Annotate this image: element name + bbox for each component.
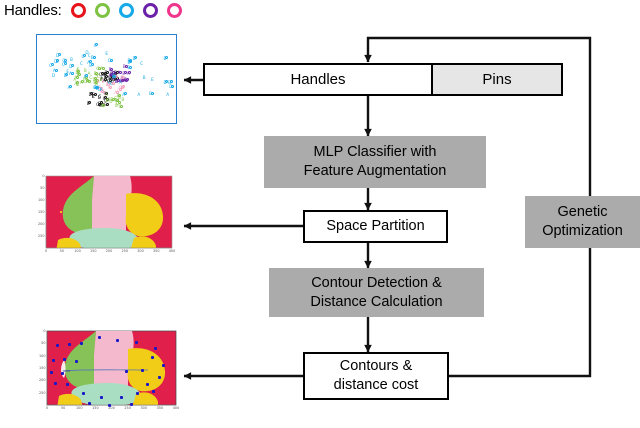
scatter-marker: B — [102, 80, 105, 84]
contours-distance-map[interactable]: 050100150200250300350400050100150200250 — [30, 326, 182, 418]
scatter-marker: C — [98, 95, 101, 99]
genetic-label-line-2: Optimization — [542, 222, 623, 241]
scatter-marker: B — [97, 80, 100, 84]
scatter-marker-ring — [88, 80, 91, 83]
pins-segment[interactable]: Pins — [433, 65, 561, 94]
scatter-marker: E — [77, 68, 80, 72]
contours-distance-cost-box[interactable]: Contours & distance cost — [303, 352, 449, 400]
scatter-marker: A — [119, 81, 122, 85]
axis-tick-y: 150 — [30, 366, 46, 370]
handles-scatter-plot[interactable]: CBCDDBEDCDBAEEAEBAAEBBEDEEBDDCECCBCCAACD… — [36, 34, 177, 124]
scatter-points-layer: CBCDDBEDCDBAEEAEBAAEBBEDEEBDDCECCBCCAACD… — [37, 35, 176, 123]
scatter-marker: C — [80, 62, 83, 66]
scatter-marker: A — [137, 93, 140, 97]
scatter-marker-ring — [116, 91, 119, 94]
scatter-marker-ring — [71, 72, 74, 75]
axis-tick-y: 250 — [30, 391, 46, 395]
scatter-marker: B — [108, 98, 111, 102]
scatter-marker-ring — [116, 99, 119, 102]
axis-tick-x: 0 — [46, 406, 48, 410]
axis-tick-x: 300 — [141, 406, 147, 410]
scatter-marker-ring — [102, 67, 105, 70]
contours-ticks: 050100150200250300350400050100150200250 — [30, 326, 182, 418]
axis-tick-x: 200 — [108, 406, 114, 410]
axis-tick-x: 150 — [92, 406, 98, 410]
scatter-marker: C — [140, 62, 143, 66]
handles-pins-box[interactable]: Handles Pins — [203, 63, 563, 96]
scatter-marker: B — [143, 76, 146, 80]
scatter-marker-ring — [120, 105, 123, 108]
axis-tick-y: 200 — [30, 378, 46, 382]
scatter-marker: E — [77, 83, 80, 87]
axis-tick-x: 350 — [157, 406, 163, 410]
scatter-marker-ring — [128, 71, 131, 74]
genetic-label-line-1: Genetic — [558, 203, 608, 222]
pins-segment-label: Pins — [482, 70, 511, 89]
axis-tick-x: 300 — [137, 249, 143, 253]
handles-segment[interactable]: Handles — [205, 65, 433, 94]
scatter-marker-ring — [64, 62, 67, 65]
axis-tick-x: 200 — [106, 249, 112, 253]
axis-tick-y: 200 — [30, 222, 45, 226]
scatter-marker-ring — [95, 43, 98, 46]
scatter-marker: B — [56, 60, 59, 64]
diagram-canvas: Handles: — [0, 0, 640, 428]
scatter-marker-ring — [171, 85, 174, 88]
scatter-marker-ring — [151, 92, 154, 95]
scatter-marker-ring — [58, 53, 61, 56]
space-partition-label: Space Partition — [326, 217, 424, 236]
scatter-marker-ring — [96, 86, 99, 89]
scatter-marker: E — [103, 90, 106, 94]
scatter-marker-ring — [88, 101, 91, 104]
scatter-marker-ring — [69, 85, 72, 88]
axis-tick-y: 100 — [30, 354, 46, 358]
scatter-marker-ring — [122, 76, 125, 79]
axis-tick-x: 50 — [60, 249, 64, 253]
axis-tick-y: 150 — [30, 210, 45, 214]
space-partition-ticks: 050100150200250300350400050100150200250 — [30, 172, 178, 260]
scatter-marker-ring — [119, 71, 122, 74]
mlp-label-line-1: MLP Classifier with — [313, 143, 436, 162]
scatter-marker-ring — [170, 80, 173, 83]
scatter-marker: A — [166, 93, 169, 97]
axis-tick-x: 350 — [153, 249, 159, 253]
axis-tick-y: 50 — [30, 341, 46, 345]
axis-tick-x: 150 — [90, 249, 96, 253]
contour-label-line-1: Contour Detection & — [311, 274, 442, 293]
scatter-marker-ring — [134, 56, 137, 59]
scatter-marker: B — [84, 69, 87, 73]
scatter-marker: C — [92, 95, 95, 99]
axis-tick-x: 100 — [74, 249, 80, 253]
scatter-marker: D — [95, 73, 98, 77]
axis-tick-x: 400 — [169, 249, 175, 253]
contours-cost-line-2: distance cost — [334, 376, 419, 395]
scatter-marker: E — [105, 52, 108, 56]
axis-tick-y: 100 — [30, 198, 45, 202]
scatter-marker-ring — [124, 92, 127, 95]
axis-tick-y: 0 — [30, 329, 46, 333]
scatter-marker: B — [70, 58, 73, 62]
scatter-marker-ring — [129, 66, 132, 69]
space-partition-box[interactable]: Space Partition — [303, 210, 448, 243]
scatter-marker: E — [151, 78, 154, 82]
mlp-classifier-box[interactable]: MLP Classifier with Feature Augmentation — [264, 136, 486, 188]
genetic-optimization-box[interactable]: Genetic Optimization — [525, 196, 640, 248]
scatter-marker-ring — [93, 56, 96, 59]
axis-tick-x: 50 — [61, 406, 65, 410]
scatter-marker-ring — [78, 73, 81, 76]
axis-tick-x: 400 — [173, 406, 179, 410]
scatter-marker: C — [110, 82, 113, 86]
scatter-marker: C — [89, 76, 92, 80]
mlp-label-line-2: Feature Augmentation — [304, 162, 447, 181]
scatter-marker: A — [100, 88, 103, 92]
scatter-marker: D — [85, 51, 88, 55]
space-partition-map[interactable]: 050100150200250300350400050100150200250 — [30, 172, 178, 260]
scatter-marker: D — [52, 74, 55, 78]
scatter-marker-ring — [110, 59, 113, 62]
scatter-marker-ring — [71, 64, 74, 67]
scatter-marker-ring — [85, 74, 88, 77]
contour-label-line-2: Distance Calculation — [310, 293, 442, 312]
scatter-marker-ring — [126, 78, 129, 81]
contours-cost-line-1: Contours & — [340, 357, 413, 376]
axis-tick-x: 250 — [122, 249, 128, 253]
scatter-marker-ring — [165, 56, 168, 59]
handles-segment-label: Handles — [290, 70, 345, 89]
scatter-marker-ring — [91, 63, 94, 66]
axis-tick-x: 0 — [45, 249, 47, 253]
axis-tick-y: 250 — [30, 234, 45, 238]
contour-detection-box[interactable]: Contour Detection & Distance Calculation — [269, 268, 484, 317]
scatter-marker-ring — [121, 86, 124, 89]
scatter-marker: B — [121, 98, 124, 102]
axis-tick-x: 100 — [76, 406, 82, 410]
axis-tick-x: 250 — [124, 406, 130, 410]
axis-tick-y: 0 — [30, 174, 45, 178]
scatter-marker-ring — [55, 69, 58, 72]
axis-tick-y: 50 — [30, 186, 45, 190]
